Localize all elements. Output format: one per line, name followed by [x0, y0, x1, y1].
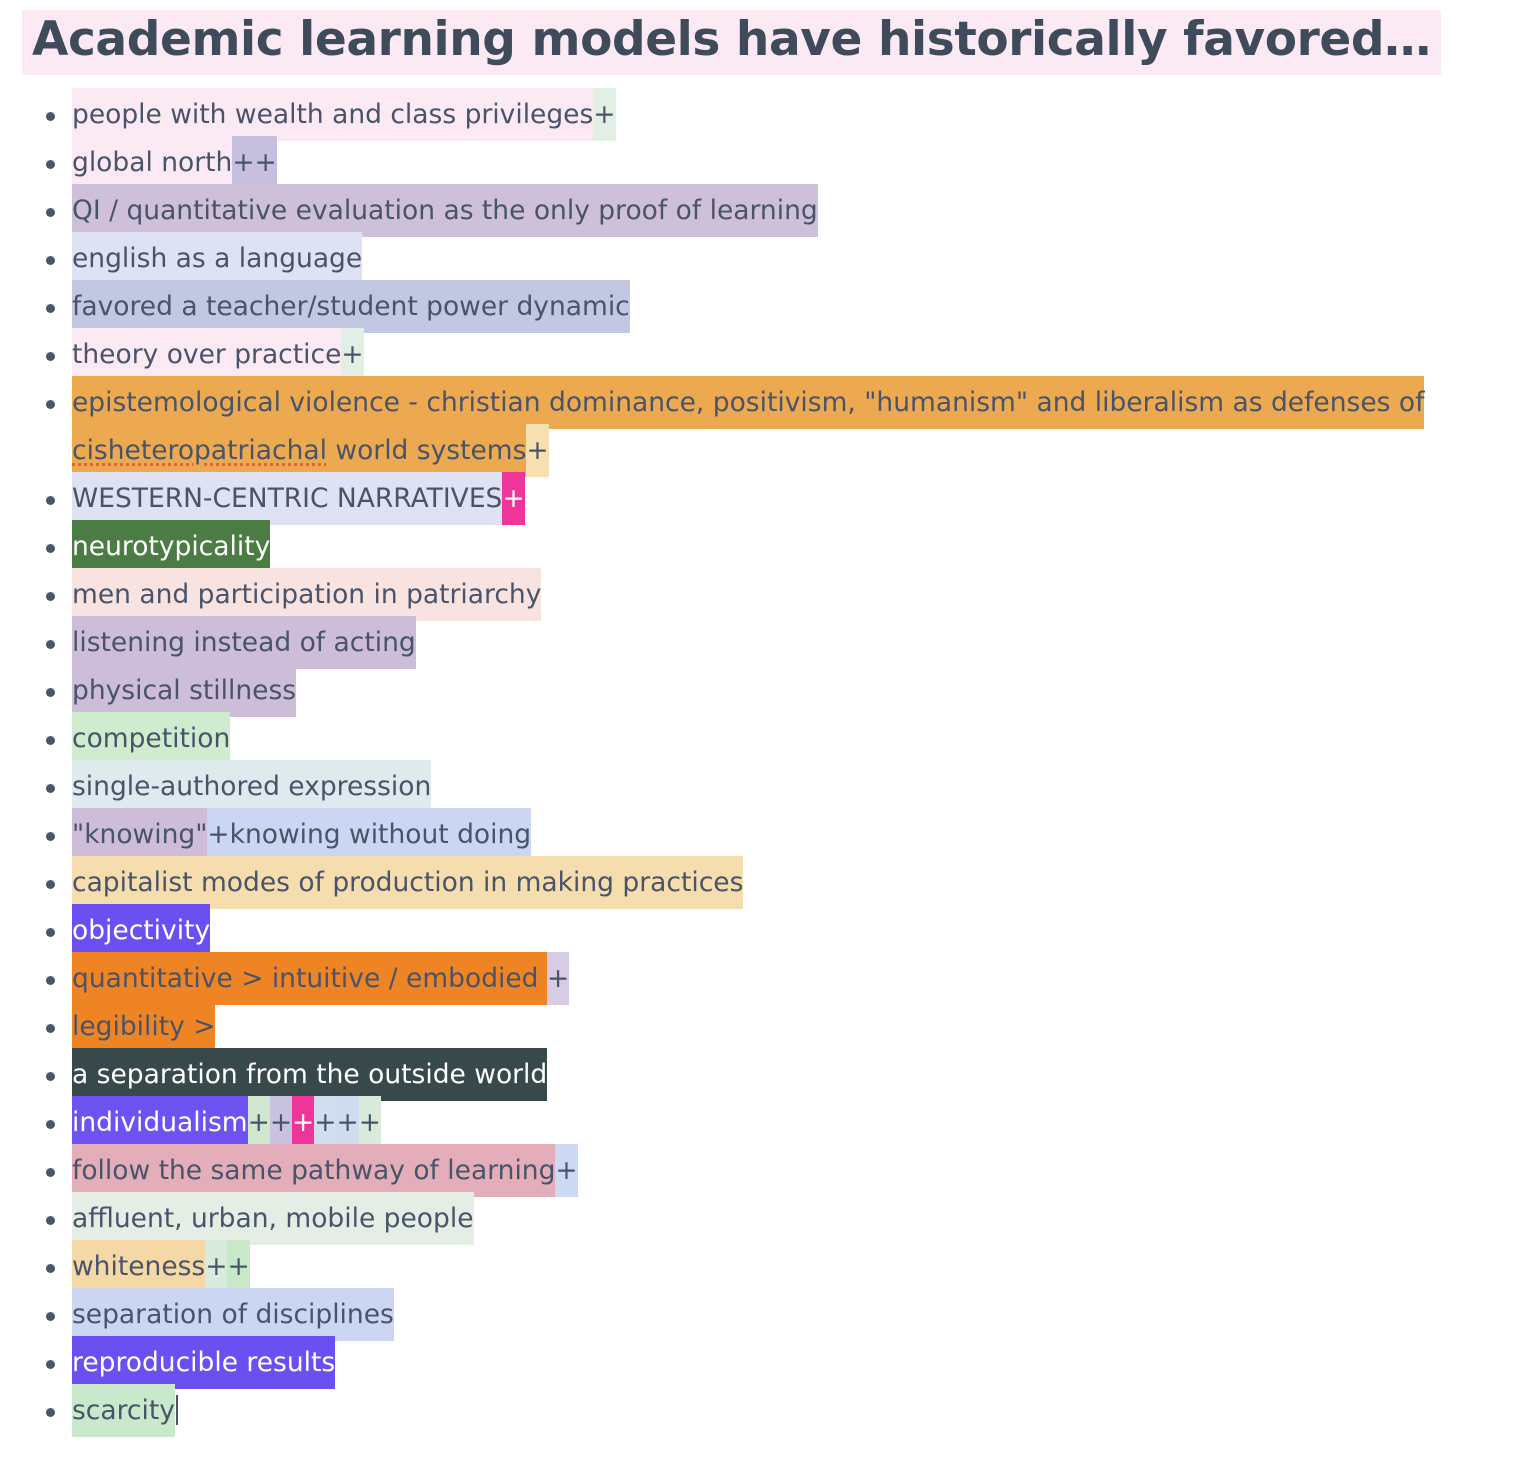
highlight-span: neurotypicality [72, 520, 270, 573]
highlight-span: + [227, 1240, 249, 1293]
list-item[interactable]: legibility > [0, 1003, 1534, 1051]
title-container: Academic learning models have historical… [0, 0, 1534, 75]
list-item[interactable]: single-authored expression [0, 763, 1534, 811]
highlight-span: + [270, 1096, 292, 1149]
highlight-span: cisheteropatriachal [72, 424, 327, 477]
list-item[interactable]: reproducible results [0, 1339, 1534, 1387]
highlight-span: favored a teacher/student power dynamic [72, 280, 630, 333]
list-item[interactable]: epistemological violence - christian dom… [0, 379, 1534, 475]
highlight-span: + [502, 472, 524, 525]
highlight-span: single-authored expression [72, 760, 431, 813]
text-cursor [176, 1395, 178, 1425]
highlight-span: men and participation in patriarchy [72, 568, 541, 621]
highlight-span: affluent, urban, mobile people [72, 1192, 474, 1245]
document-page: Academic learning models have historical… [0, 0, 1534, 1480]
highlight-span: world systems [327, 424, 526, 477]
list-item[interactable]: individualism++++++ [0, 1099, 1534, 1147]
list-item[interactable]: english as a language [0, 235, 1534, 283]
highlight-span: "knowing" [72, 808, 207, 861]
highlight-span: scarcity [72, 1384, 175, 1437]
highlight-span: + [336, 1096, 358, 1149]
list-item[interactable]: separation of disciplines [0, 1291, 1534, 1339]
highlight-span: WESTERN-CENTRIC NARRATIVES [72, 472, 502, 525]
list-item[interactable]: listening instead of acting [0, 619, 1534, 667]
highlight-span: + [359, 1096, 381, 1149]
list-item[interactable]: WESTERN-CENTRIC NARRATIVES+ [0, 475, 1534, 523]
list-item[interactable]: global north++ [0, 139, 1534, 187]
list-item[interactable]: follow the same pathway of learning+ [0, 1147, 1534, 1195]
list-item[interactable]: neurotypicality [0, 523, 1534, 571]
highlight-span: QI / quantitative evaluation as the only… [72, 184, 818, 237]
list-item[interactable]: "knowing"+knowing without doing [0, 811, 1534, 859]
highlight-span: individualism [72, 1096, 248, 1149]
spellcheck-underline: cisheteropatriachal [72, 435, 327, 466]
highlight-span: + [547, 952, 569, 1005]
highlight-span: + [526, 424, 548, 477]
list-item[interactable]: affluent, urban, mobile people [0, 1195, 1534, 1243]
list-item[interactable]: people with wealth and class privileges+ [0, 91, 1534, 139]
highlight-span: + [205, 1240, 227, 1293]
highlight-span: capitalist modes of production in making… [72, 856, 743, 909]
highlight-span: whiteness [72, 1240, 205, 1293]
highlight-span: + [314, 1096, 336, 1149]
highlight-span: objectivity [72, 904, 210, 957]
highlight-span: quantitative > intuitive / embodied [72, 952, 547, 1005]
highlight-span: a separation from the outside world [72, 1048, 547, 1101]
list-item[interactable]: a separation from the outside world [0, 1051, 1534, 1099]
highlight-span: legibility > [72, 1000, 215, 1053]
highlight-span: listening instead of acting [72, 616, 416, 669]
list-item[interactable]: QI / quantitative evaluation as the only… [0, 187, 1534, 235]
highlight-span: competition [72, 712, 230, 765]
highlight-span: english as a language [72, 232, 362, 285]
list-item[interactable]: competition [0, 715, 1534, 763]
highlight-span: follow the same pathway of learning [72, 1144, 555, 1197]
list-item[interactable]: objectivity [0, 907, 1534, 955]
highlight-span: people with wealth and class privileges [72, 88, 593, 141]
highlight-span: global north [72, 136, 232, 189]
page-title: Academic learning models have historical… [22, 10, 1441, 75]
list-item[interactable]: men and participation in patriarchy [0, 571, 1534, 619]
highlighted-bullet-list[interactable]: people with wealth and class privileges+… [0, 91, 1534, 1435]
highlight-span: reproducible results [72, 1336, 335, 1389]
list-item[interactable]: physical stillness [0, 667, 1534, 715]
highlight-span: physical stillness [72, 664, 296, 717]
highlight-span: epistemological violence - christian dom… [72, 376, 1424, 429]
highlight-span: + [555, 1144, 577, 1197]
highlight-span: + [341, 328, 363, 381]
list-item[interactable]: theory over practice+ [0, 331, 1534, 379]
list-item[interactable]: scarcity [0, 1387, 1534, 1435]
highlight-span: + [292, 1096, 314, 1149]
highlight-span: separation of disciplines [72, 1288, 394, 1341]
list-item[interactable]: capitalist modes of production in making… [0, 859, 1534, 907]
highlight-span: ++ [232, 136, 276, 189]
highlight-span: theory over practice [72, 328, 341, 381]
list-item[interactable]: whiteness++ [0, 1243, 1534, 1291]
list-item[interactable]: quantitative > intuitive / embodied + [0, 955, 1534, 1003]
list-item[interactable]: favored a teacher/student power dynamic [0, 283, 1534, 331]
highlight-span: + [593, 88, 615, 141]
highlight-span: +knowing without doing [207, 808, 531, 861]
highlight-span: + [248, 1096, 270, 1149]
